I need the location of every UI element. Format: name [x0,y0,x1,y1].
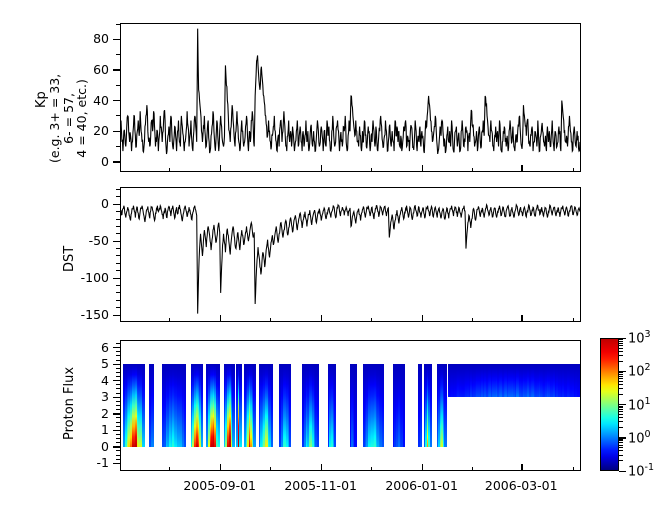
spectrogram-column [354,364,356,447]
kp-major-tick [113,69,120,70]
x-minor-tick [169,318,170,322]
spectrogram-column [218,364,220,447]
proton-flux-minor-tick [116,343,120,344]
kp-tick-label: 20 [57,123,109,138]
colorbar-minor-tick [619,378,623,379]
proton-flux-minor-tick [116,405,120,406]
kp-tick-label: 80 [57,31,109,46]
proton-flux-minor-tick [116,455,120,456]
colorbar-minor-tick [619,439,623,440]
colorbar-tick-label: 103 [628,329,651,346]
kp-note-line-2: 6- = 57, [62,74,76,163]
proton-flux-minor-tick [116,376,120,377]
colorbar-minor-tick [619,394,623,395]
proton-flux-tick-label: 5 [57,356,109,371]
colorbar-minor-tick [619,355,623,356]
colorbar-minor-tick [619,440,623,441]
x-major-tick [521,165,522,172]
dst-major-tick [113,315,120,316]
kp-note-line-3: 4 = 40, etc.) [75,74,89,163]
spectrogram-column [201,364,203,447]
kp-minor-tick [116,146,120,147]
dst-tick-label: 0 [57,196,109,211]
proton-flux-spectrogram [121,341,580,470]
colorbar-minor-tick [619,447,623,448]
spectrogram-column [578,364,580,397]
proton-flux-minor-tick [116,442,120,443]
dst-axis-label: DST [62,246,77,272]
dst-minor-tick [116,233,120,234]
kp-major-tick [113,100,120,101]
proton-flux-minor-tick [116,401,120,402]
x-minor-tick [270,467,271,471]
kp-note-line-1: (e.g. 3+ = 33, [48,74,62,163]
colorbar-minor-tick [619,341,623,342]
kp-data-clip [121,24,580,171]
proton-flux-minor-tick [116,459,120,460]
colorbar-minor-tick [619,381,623,382]
colorbar-minor-tick [619,339,623,340]
colorbar-minor-tick [619,411,623,412]
spectrogram-column [382,364,384,447]
proton-flux-minor-tick [116,351,120,352]
proton-flux-minor-tick [116,417,120,418]
dst-tick-label: -100 [57,270,109,285]
proton-flux-tick-label: 1 [57,422,109,437]
spectrogram-column [430,364,432,447]
proton-flux-minor-tick [116,372,120,373]
colorbar-minor-tick [619,361,623,362]
dst-minor-tick [116,189,120,190]
spectrogram-column [271,364,273,447]
proton-flux-major-tick [113,413,120,414]
colorbar-gradient [601,339,618,470]
proton-flux-major-tick [113,364,120,365]
proton-flux-minor-tick [116,422,120,423]
proton-flux-major-tick [113,446,120,447]
colorbar-minor-tick [619,450,623,451]
colorbar-minor-tick [619,345,623,346]
kp-tick-label: 0 [57,154,109,169]
colorbar [600,338,619,471]
kp-major-tick [113,131,120,132]
proton-flux-major-tick [113,463,120,464]
proton-flux-major-tick [113,397,120,398]
colorbar-tick-label: 100 [628,429,651,446]
proton-flux-tick-label: -1 [57,455,109,470]
x-axis-tick-label: 2005-11-01 [271,478,371,493]
proton-flux-tick-label: 6 [57,340,109,355]
colorbar-minor-tick [619,376,623,377]
dst-series-plot [121,188,580,321]
x-minor-tick [169,467,170,471]
dst-minor-tick [116,270,120,271]
proton-flux-tick-label: 2 [57,406,109,421]
spectrogram-column [444,364,446,447]
proton-flux-major-tick [113,347,120,348]
x-minor-tick [270,318,271,322]
x-major-tick [422,464,423,471]
x-major-tick [321,165,322,172]
x-major-tick [422,315,423,322]
colorbar-tick-label: 101 [628,396,651,413]
kp-tick-label: 60 [57,62,109,77]
colorbar-minor-tick [619,343,623,344]
x-major-tick [321,315,322,322]
x-minor-tick [472,467,473,471]
x-minor-tick [371,318,372,322]
spectrogram-column [403,364,405,447]
x-minor-tick [472,168,473,172]
dst-minor-tick [116,226,120,227]
kp-minor-tick [116,54,120,55]
x-minor-tick [573,318,574,322]
colorbar-minor-tick [619,351,623,352]
x-minor-tick [270,168,271,172]
proton-flux-minor-tick [116,426,120,427]
colorbar-minor-tick [619,442,623,443]
dst-tick-label: -50 [57,233,109,248]
x-minor-tick [169,168,170,172]
dst-minor-tick [116,263,120,264]
spectrogram-column [239,364,241,447]
colorbar-major-tick [619,471,626,472]
spectrogram-column [289,364,291,447]
spectrogram-column [143,364,145,447]
x-axis-tick-label: 2006-01-01 [372,478,472,493]
proton-flux-major-tick [113,430,120,431]
proton-flux-minor-tick [116,388,120,389]
colorbar-tick-label: 10-1 [628,462,654,479]
colorbar-minor-tick [619,388,623,389]
colorbar-minor-tick [619,455,623,456]
kp-minor-tick [116,85,120,86]
kp-minor-tick [116,115,120,116]
proton-flux-minor-tick [116,450,120,451]
colorbar-minor-tick [619,348,623,349]
dst-minor-tick [116,196,120,197]
dst-minor-tick [116,300,120,301]
proton-flux-minor-tick [116,355,120,356]
x-major-tick [220,315,221,322]
x-minor-tick [371,168,372,172]
spectrogram-column [151,364,153,447]
x-major-tick [521,315,522,322]
kp-major-tick [113,39,120,40]
x-axis-tick-label: 2005-09-01 [170,478,270,493]
proton-flux-major-tick [113,380,120,381]
proton-flux-minor-tick [116,438,120,439]
colorbar-minor-tick [619,414,623,415]
kp-tick-label: 40 [57,93,109,108]
kp-minor-tick [116,24,120,25]
kp-axis-label-note: (e.g. 3+ = 33, 6- = 57, 4 = 40, etc.) [48,74,89,163]
x-minor-tick [573,168,574,172]
dst-minor-tick [116,211,120,212]
dst-data-clip [121,188,580,321]
dst-minor-tick [116,285,120,286]
kp-major-tick [113,161,120,162]
spectrogram-column [317,364,319,447]
proton-flux-minor-tick [116,409,120,410]
x-major-tick [220,464,221,471]
proton-flux-data-clip [121,341,580,470]
colorbar-minor-tick [619,421,623,422]
colorbar-minor-tick [619,460,623,461]
proton-flux-minor-tick [116,368,120,369]
spectrogram-column [253,364,255,447]
x-minor-tick [472,318,473,322]
colorbar-minor-tick [619,427,623,428]
x-major-tick [220,165,221,172]
x-major-tick [321,464,322,471]
x-major-tick [422,165,423,172]
dst-minor-tick [116,292,120,293]
spectrogram-column [334,364,336,447]
x-minor-tick [371,467,372,471]
x-major-tick [521,464,522,471]
dst-tick-label: -150 [57,307,109,322]
dst-major-tick [113,278,120,279]
x-axis-tick-label: 2006-03-01 [471,478,571,493]
proton-flux-tick-label: 4 [57,373,109,388]
colorbar-tick-label: 102 [628,362,651,379]
colorbar-minor-tick [619,445,623,446]
colorbar-minor-tick [619,417,623,418]
dst-major-tick [113,241,120,242]
colorbar-minor-tick [619,406,623,407]
proton-flux-minor-tick [116,360,120,361]
proton-flux-tick-label: 3 [57,389,109,404]
spectrogram-column [420,364,422,447]
kp-series-plot [121,24,580,171]
colorbar-minor-tick [619,384,623,385]
dst-minor-tick [116,255,120,256]
proton-flux-tick-label: 0 [57,439,109,454]
colorbar-minor-tick [619,374,623,375]
dst-major-tick [113,204,120,205]
colorbar-minor-tick [619,409,623,410]
colorbar-minor-tick [619,372,623,373]
proton-flux-minor-tick [116,393,120,394]
colorbar-minor-tick [619,407,623,408]
spectrogram-column [184,364,186,447]
proton-flux-minor-tick [116,434,120,435]
spectrogram-column [232,364,234,447]
proton-flux-minor-tick [116,384,120,385]
x-minor-tick [573,467,574,471]
dst-minor-tick [116,219,120,220]
dst-minor-tick [116,248,120,249]
dst-minor-tick [116,307,120,308]
